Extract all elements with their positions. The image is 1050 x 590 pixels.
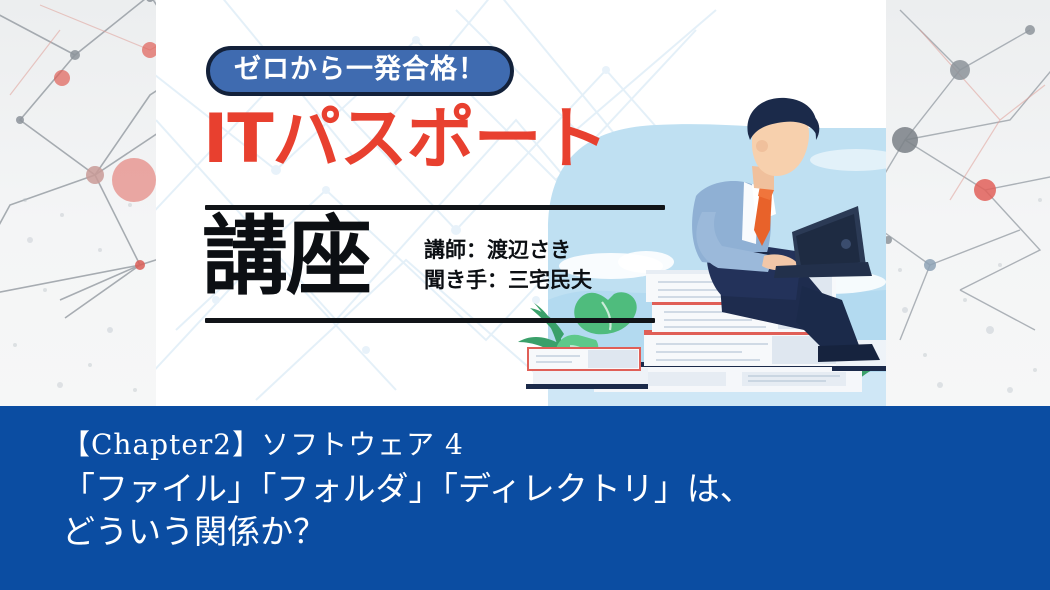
subject-title-kouza: 講座 — [202, 216, 370, 299]
credit-instructor: 講師：渡辺さき — [424, 235, 592, 265]
caption-bar: 【Chapter2】ソフトウェア 4 「ファイル」「フォルダ」「ディレクトリ」は… — [0, 406, 1050, 590]
credit-interviewer: 聞き手：三宅民夫 — [424, 265, 592, 295]
badge-zero-pass: ゼロから一発合格！ — [206, 46, 514, 96]
main-title-it-passport: ITパスポート — [203, 106, 608, 174]
divider-bottom — [205, 318, 655, 323]
video-thumbnail-canvas: ゼロから一発合格！ ITパスポート 講座 講師：渡辺さき 聞き手：三宅民夫 【C… — [0, 0, 1050, 590]
credits-block: 講師：渡辺さき 聞き手：三宅民夫 — [424, 235, 592, 296]
caption-line-chapter: 【Chapter2】ソフトウェア 4 — [62, 426, 1030, 464]
caption-line-question-part1: 「ファイル」「フォルダ」「ディレクトリ」は、 — [62, 468, 1030, 511]
book-small-left — [526, 348, 648, 389]
caption-line-question-part2: どういう関係か？ — [62, 511, 1030, 554]
thumbnail-card: ゼロから一発合格！ ITパスポート 講座 講師：渡辺さき 聞き手：三宅民夫 — [156, 0, 886, 406]
caption-text-block: 【Chapter2】ソフトウェア 4 「ファイル」「フォルダ」「ディレクトリ」は… — [62, 426, 1030, 554]
badge-wrapper: ゼロから一発合格！ — [206, 46, 514, 96]
shoe — [818, 344, 880, 362]
